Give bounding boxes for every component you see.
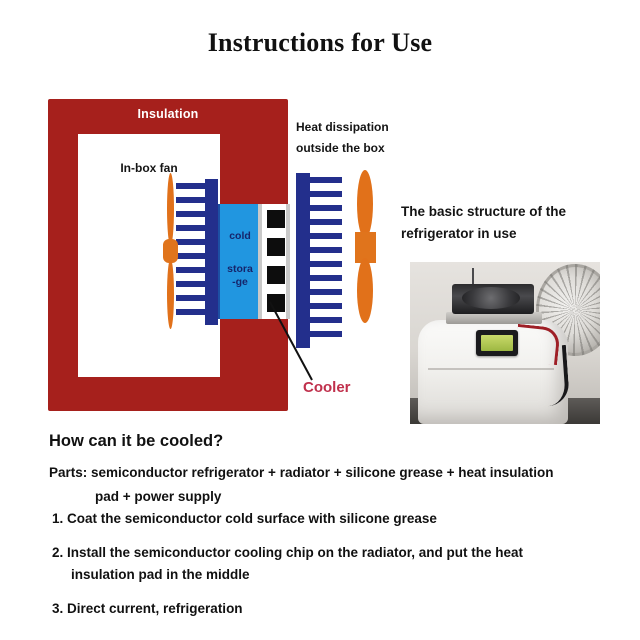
cooler-label: Cooler (303, 379, 351, 396)
radiator-fin (176, 309, 205, 315)
heat-dissipation-label: Heat dissipation outside the box (296, 117, 411, 159)
step-1-line1: 1. Coat the semiconductor cold surface w… (52, 511, 437, 526)
radiator-fin (176, 281, 205, 287)
radiator-fin (310, 289, 342, 295)
heat-dissipation-line2: outside the box (296, 138, 411, 159)
radiator-fin (176, 211, 205, 217)
inbox-fan-label: In-box fan (78, 161, 220, 175)
radiator-inside-box (176, 179, 218, 325)
steps-list: 1. Coat the semiconductor cold surface w… (52, 508, 582, 632)
radiator-spine (205, 179, 218, 325)
outside-fan-icon (352, 170, 378, 323)
step-3-line1: 3. Direct current, refrigeration (52, 601, 243, 616)
step-3: 3. Direct current, refrigeration (52, 598, 582, 620)
radiator-fin (176, 253, 205, 259)
radiator-fin (310, 275, 342, 281)
step-2: 2. Install the semiconductor cooling chi… (52, 542, 582, 586)
parts-list: Parts: semiconductor refrigerator + radi… (49, 461, 579, 509)
fan-blade (357, 170, 373, 238)
radiator-fin (310, 247, 342, 253)
radiator-fin (310, 233, 342, 239)
cold-storage-line1: cold (220, 230, 260, 243)
radiator-fin (310, 191, 342, 197)
radiator-fin (176, 197, 205, 203)
fan-blade (167, 173, 174, 245)
radiator-fin (176, 295, 205, 301)
cold-storage-line2: stora (220, 263, 260, 276)
temperature-display (476, 330, 518, 356)
radiator-fin (310, 219, 342, 225)
peltier-cell (267, 266, 285, 284)
refrigerator-photo (410, 262, 600, 424)
step-2-line1: 2. Install the semiconductor cooling chi… (52, 545, 523, 560)
parts-line1: Parts: semiconductor refrigerator + radi… (49, 465, 554, 480)
radiator-fin (310, 205, 342, 211)
instructions-page: Instructions for Use Insulation In-box f… (0, 0, 640, 640)
radiator-fin (176, 183, 205, 189)
photo-caption-line1: The basic structure of the (401, 201, 616, 223)
radiator-fin (176, 225, 205, 231)
cooler-leader-line (250, 300, 320, 382)
fan-blade (167, 259, 174, 329)
cold-storage-line3: -ge (220, 276, 260, 289)
heat-dissipation-line1: Heat dissipation (296, 117, 411, 138)
radiator-fin (310, 261, 342, 267)
radiator-fin (176, 239, 205, 245)
radiator-fin (176, 267, 205, 273)
step-1: 1. Coat the semiconductor cold surface w… (52, 508, 582, 530)
insulation-label: Insulation (48, 107, 288, 121)
heatsink-fan (462, 287, 520, 309)
step-2-line2: insulation pad in the middle (52, 564, 582, 586)
radiator-fin (310, 177, 342, 183)
page-title: Instructions for Use (0, 28, 640, 58)
fan-blade (357, 258, 373, 323)
peltier-cell (267, 238, 285, 256)
in-box-fan-icon (160, 173, 180, 329)
parts-line2: pad + power supply (49, 485, 579, 509)
display-screen (481, 335, 513, 351)
peltier-cell (267, 210, 285, 228)
how-cooled-heading: How can it be cooled? (49, 432, 223, 451)
photo-caption: The basic structure of the refrigerator … (401, 201, 616, 245)
photo-caption-line2: refrigerator in use (401, 223, 616, 245)
